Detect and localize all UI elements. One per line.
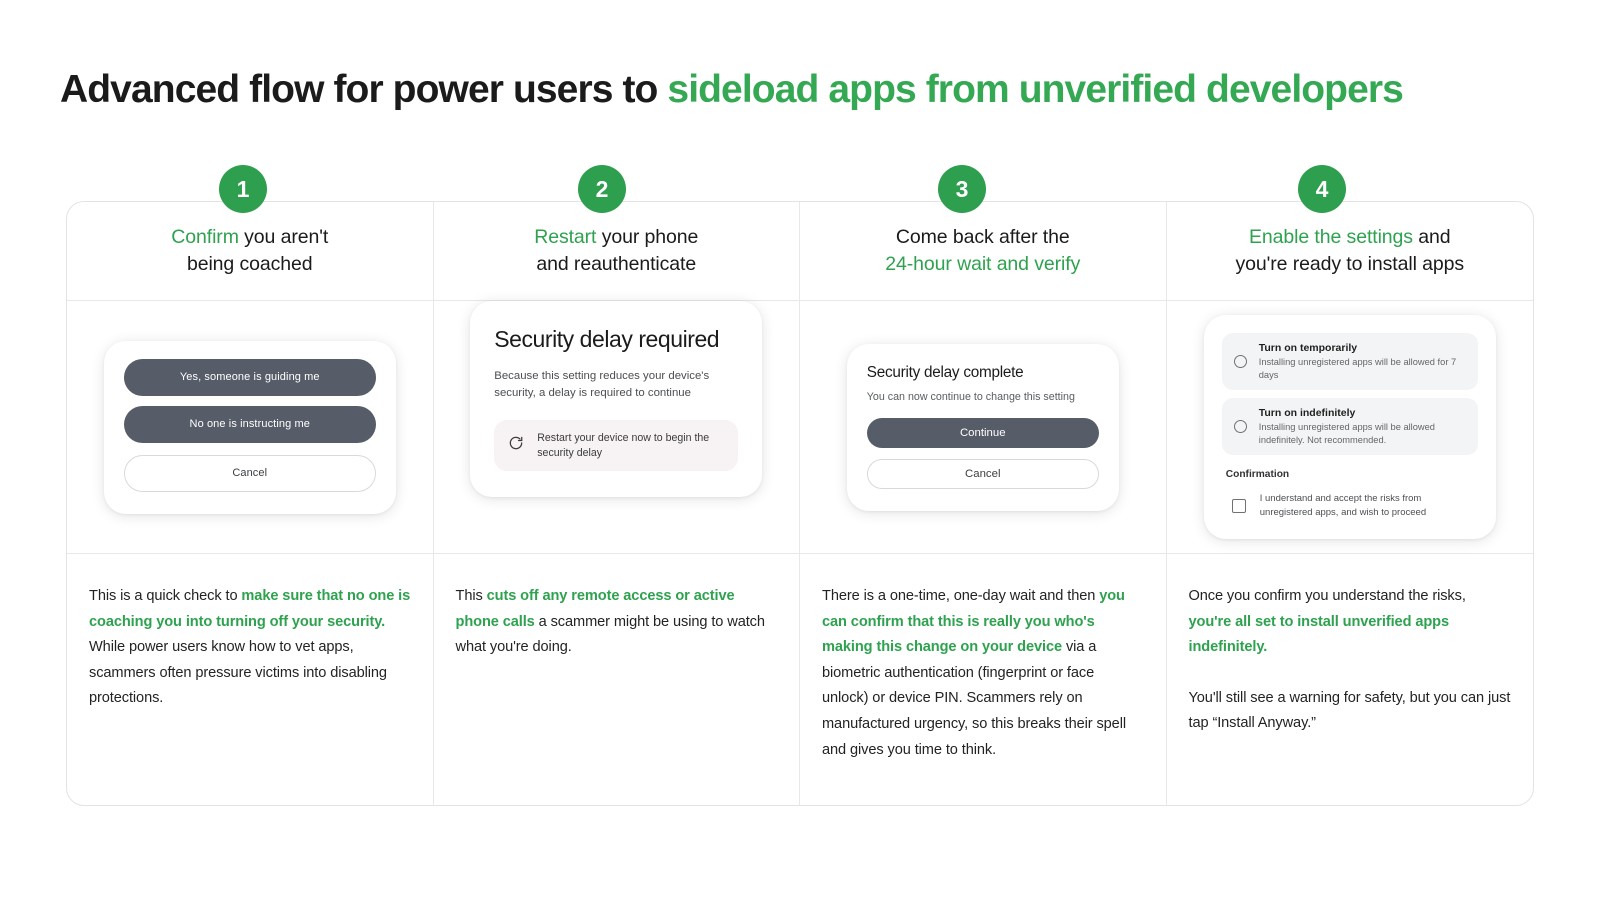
security-delay-complete-subtitle: You can now continue to change this sett… — [867, 391, 1099, 403]
description-paragraph: This is a quick check to make sure that … — [89, 584, 411, 712]
radio-icon[interactable] — [1234, 420, 1247, 433]
step-3-heading: Come back after the 24-hour wait and ver… — [885, 224, 1080, 278]
description-paragraph: This cuts off any remote access or activ… — [456, 584, 778, 661]
step-badge-1-number: 1 — [237, 176, 250, 203]
restart-device-text: Restart your device now to begin the sec… — [537, 431, 724, 460]
confirmation-checkbox-text: I understand and accept the risks from u… — [1260, 492, 1474, 519]
continue-button[interactable]: Continue — [867, 418, 1099, 448]
step-column-1: Confirm you aren't being coached Yes, so… — [67, 202, 434, 805]
option-temporarily-subtitle: Installing unregistered apps will be all… — [1259, 356, 1466, 381]
restart-device-row[interactable]: Restart your device now to begin the sec… — [494, 420, 738, 471]
cancel-button[interactable]: Cancel — [867, 459, 1099, 489]
step-1-heading-accent: Confirm — [171, 226, 239, 248]
page-title-lead: Advanced flow for power users to — [60, 68, 667, 111]
steps-grid: Confirm you aren't being coached Yes, so… — [66, 201, 1534, 806]
step-column-2: Restart your phone and reauthenticate Se… — [434, 202, 801, 805]
cancel-label: Cancel — [965, 468, 1000, 480]
security-delay-complete-title: Security delay complete — [867, 364, 1099, 382]
security-delay-complete-dialog: Security delay complete You can now cont… — [847, 344, 1119, 511]
step-badge-1: 1 — [219, 165, 267, 213]
step-4-description-cell: Once you confirm you understand the risk… — [1167, 554, 1534, 805]
step-2-heading-rest: your phone — [596, 226, 698, 248]
step-1-heading-line2: being coached — [187, 253, 313, 275]
step-3-description: There is a one-time, one-day wait and th… — [822, 584, 1144, 763]
step-badge-3-number: 3 — [956, 176, 969, 203]
step-4-visual: Turn on temporarily Installing unregiste… — [1167, 301, 1534, 554]
step-4-heading-rest: and — [1413, 226, 1451, 248]
no-instructing-button[interactable]: No one is instructing me — [124, 406, 376, 443]
confirmation-label: Confirmation — [1226, 469, 1478, 480]
description-paragraph: There is a one-time, one-day wait and th… — [822, 584, 1144, 763]
step-badge-2: 2 — [578, 165, 626, 213]
description-plain: This is a quick check to — [89, 588, 241, 604]
step-badge-4: 4 — [1298, 165, 1346, 213]
description-plain: via a biometric authentication (fingerpr… — [822, 639, 1126, 757]
step-badge-3: 3 — [938, 165, 986, 213]
step-4-heading-line2: you're ready to install apps — [1235, 253, 1464, 275]
step-2-visual: Security delay required Because this set… — [434, 301, 800, 554]
step-4-heading: Enable the settings and you're ready to … — [1235, 224, 1464, 278]
description-highlight: you're all set to install unverified app… — [1189, 614, 1450, 656]
page-title-accent: sideload apps from unverified developers — [667, 68, 1403, 111]
description-plain: You'll still see a warning for safety, b… — [1189, 690, 1511, 732]
step-2-heading: Restart your phone and reauthenticate — [534, 224, 698, 278]
page-title: Advanced flow for power users to sideloa… — [60, 68, 1540, 112]
step-3-description-cell: There is a one-time, one-day wait and th… — [800, 554, 1166, 805]
step-2-header: Restart your phone and reauthenticate — [434, 202, 800, 301]
enable-settings-dialog: Turn on temporarily Installing unregiste… — [1204, 315, 1496, 539]
option-indefinitely-title: Turn on indefinitely — [1259, 407, 1466, 419]
step-3-heading-line2-accent: 24-hour wait and verify — [885, 253, 1080, 275]
option-turn-on-temporarily[interactable]: Turn on temporarily Installing unregiste… — [1222, 333, 1478, 390]
step-4-heading-accent: Enable the settings — [1249, 226, 1413, 248]
step-column-3: Come back after the 24-hour wait and ver… — [800, 202, 1167, 805]
step-2-description-cell: This cuts off any remote access or activ… — [434, 554, 800, 805]
description-paragraph: You'll still see a warning for safety, b… — [1189, 686, 1512, 737]
description-paragraph: Once you confirm you understand the risk… — [1189, 584, 1512, 661]
yes-guiding-button[interactable]: Yes, someone is guiding me — [124, 359, 376, 396]
option-turn-on-indefinitely[interactable]: Turn on indefinitely Installing unregist… — [1222, 398, 1478, 455]
step-4-header: Enable the settings and you're ready to … — [1167, 202, 1534, 301]
step-1-heading: Confirm you aren't being coached — [171, 224, 328, 278]
step-1-heading-rest: you aren't — [239, 226, 328, 248]
step-3-header: Come back after the 24-hour wait and ver… — [800, 202, 1166, 301]
no-instructing-label: No one is instructing me — [190, 418, 310, 430]
option-temporarily-title: Turn on temporarily — [1259, 342, 1466, 354]
description-plain: This — [456, 588, 487, 604]
confirmation-checkbox-row[interactable]: I understand and accept the risks from u… — [1222, 492, 1478, 519]
description-plain: Once you confirm you understand the risk… — [1189, 588, 1466, 604]
step-1-header: Confirm you aren't being coached — [67, 202, 433, 301]
radio-icon[interactable] — [1234, 355, 1247, 368]
step-1-description-cell: This is a quick check to make sure that … — [67, 554, 433, 805]
step-1-description: This is a quick check to make sure that … — [89, 584, 411, 712]
description-plain: While power users know how to vet apps, … — [89, 639, 387, 706]
step-3-visual: Security delay complete You can now cont… — [800, 301, 1166, 554]
description-plain: There is a one-time, one-day wait and th… — [822, 588, 1099, 604]
step-badge-2-number: 2 — [596, 176, 609, 203]
coaching-check-sheet: Yes, someone is guiding me No one is ins… — [104, 341, 396, 514]
step-column-4: Enable the settings and you're ready to … — [1167, 202, 1534, 805]
cancel-label: Cancel — [232, 467, 267, 479]
checkbox-icon[interactable] — [1232, 499, 1246, 513]
security-delay-required-subtitle: Because this setting reduces your device… — [494, 368, 738, 402]
continue-label: Continue — [960, 427, 1006, 439]
step-badge-4-number: 4 — [1316, 176, 1329, 203]
step-2-description: This cuts off any remote access or activ… — [456, 584, 778, 661]
security-delay-required-dialog: Security delay required Because this set… — [470, 301, 762, 497]
step-2-heading-accent: Restart — [534, 226, 596, 248]
restart-icon — [508, 435, 524, 456]
step-4-description: Once you confirm you understand the risk… — [1189, 584, 1512, 737]
step-3-heading-rest: Come back after the — [896, 226, 1070, 248]
step-1-visual: Yes, someone is guiding me No one is ins… — [67, 301, 433, 554]
yes-guiding-label: Yes, someone is guiding me — [180, 371, 320, 383]
step-2-heading-line2: and reauthenticate — [536, 253, 696, 275]
option-indefinitely-subtitle: Installing unregistered apps will be all… — [1259, 421, 1466, 446]
cancel-button[interactable]: Cancel — [124, 455, 376, 492]
security-delay-required-title: Security delay required — [494, 325, 738, 354]
